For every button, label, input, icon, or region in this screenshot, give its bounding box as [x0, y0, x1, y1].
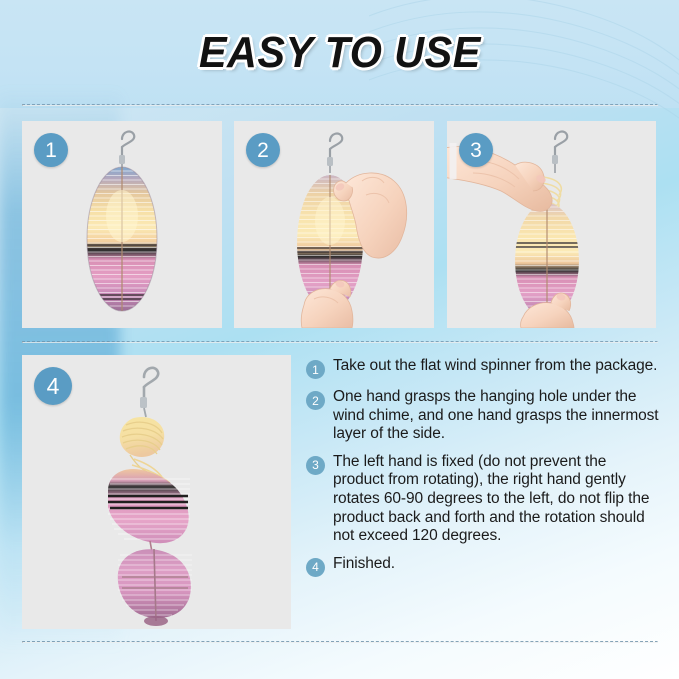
instruction-item-4: 4 Finished.: [306, 555, 661, 577]
page-background: EASY TO USE: [0, 0, 679, 679]
panel-badge-1: 1: [34, 133, 68, 167]
instruction-item-2: 2 One hand grasps the hanging hole under…: [306, 388, 661, 444]
instruction-text-1: Take out the flat wind spinner from the …: [333, 357, 657, 376]
instruction-badge-2: 2: [306, 391, 325, 410]
instruction-badge-1: 1: [306, 360, 325, 379]
panel-badge-2: 2: [246, 133, 280, 167]
instruction-item-1: 1 Take out the flat wind spinner from th…: [306, 357, 661, 379]
instruction-text-2: One hand grasps the hanging hole under t…: [333, 388, 661, 444]
instruction-badge-3: 3: [306, 456, 325, 475]
divider-bottom: [22, 641, 658, 643]
instruction-badge-4: 4: [306, 558, 325, 577]
panel-step-3: 3: [447, 121, 656, 328]
spiral-middle-lobe: [108, 469, 190, 543]
divider-middle: [22, 341, 658, 343]
panel-badge-4: 4: [34, 367, 72, 405]
instruction-list: 1 Take out the flat wind spinner from th…: [306, 357, 661, 586]
instruction-text-4: Finished.: [333, 555, 395, 574]
page-title: EASY TO USE: [199, 28, 481, 78]
panel-step-2: 2: [234, 121, 434, 328]
spiral-top-lobe: [120, 417, 164, 473]
panel-badge-3: 3: [459, 133, 493, 167]
panel-step-4: 4: [22, 355, 291, 629]
spiral-bottom-lobe: [118, 549, 192, 621]
divider-top: [22, 104, 658, 106]
instruction-text-3: The left hand is fixed (do not prevent t…: [333, 453, 661, 546]
instruction-item-3: 3 The left hand is fixed (do not prevent…: [306, 453, 661, 546]
page-title-container: EASY TO USE: [0, 28, 679, 86]
panel-step-1: 1: [22, 121, 222, 328]
